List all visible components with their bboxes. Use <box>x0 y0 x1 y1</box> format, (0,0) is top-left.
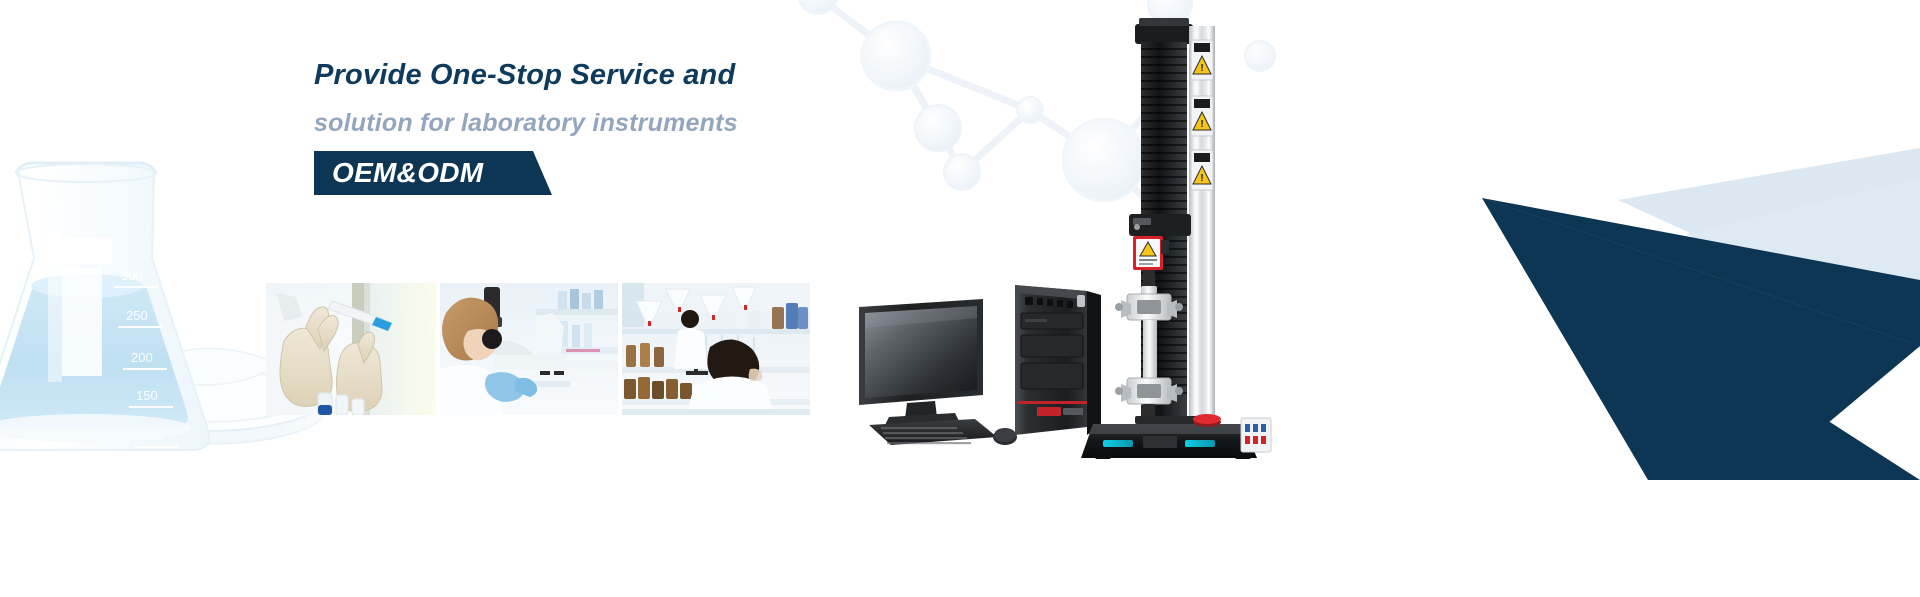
svg-text:150: 150 <box>136 388 158 403</box>
tester-column-silver <box>1189 26 1215 418</box>
dark-arrow-triangle-decoration <box>1200 150 1920 480</box>
tester-base <box>1081 414 1271 459</box>
svg-text:300: 300 <box>121 268 143 283</box>
erlenmeyer-flask: 300 250 200 150 100 <box>0 163 209 450</box>
badge-label: OEM&ODM <box>332 157 483 189</box>
tester-crosshead <box>1135 18 1193 44</box>
headline-copy: Provide One-Stop Service and solution fo… <box>314 55 1014 195</box>
monitor <box>859 299 983 425</box>
oem-odm-badge: OEM&ODM <box>314 151 552 195</box>
svg-text:!: ! <box>1200 119 1203 130</box>
svg-text:200: 200 <box>131 350 153 365</box>
tester-specimen <box>1143 320 1157 380</box>
universal-tensile-testing-machine: ! ! ! <box>1085 18 1300 448</box>
photo-laboratory-workers <box>622 283 810 415</box>
promotional-banner: 300 250 200 150 100 Provide One-Stop Ser… <box>0 0 1920 597</box>
laboratory-photo-strip <box>266 283 810 415</box>
svg-text:!: ! <box>1200 173 1203 184</box>
headline-line-1: Provide One-Stop Service and <box>314 55 1014 95</box>
desktop-computer-and-monitor <box>855 285 1115 450</box>
photo-pipetting-gloved-hands <box>266 283 436 415</box>
svg-text:250: 250 <box>126 308 148 323</box>
mouse <box>993 428 1017 445</box>
tester-warning-labels: ! ! ! <box>1191 40 1213 190</box>
headline-line-2: solution for laboratory instruments <box>314 103 1014 143</box>
photo-microscope-researcher <box>440 283 618 415</box>
svg-text:!: ! <box>1200 63 1203 74</box>
